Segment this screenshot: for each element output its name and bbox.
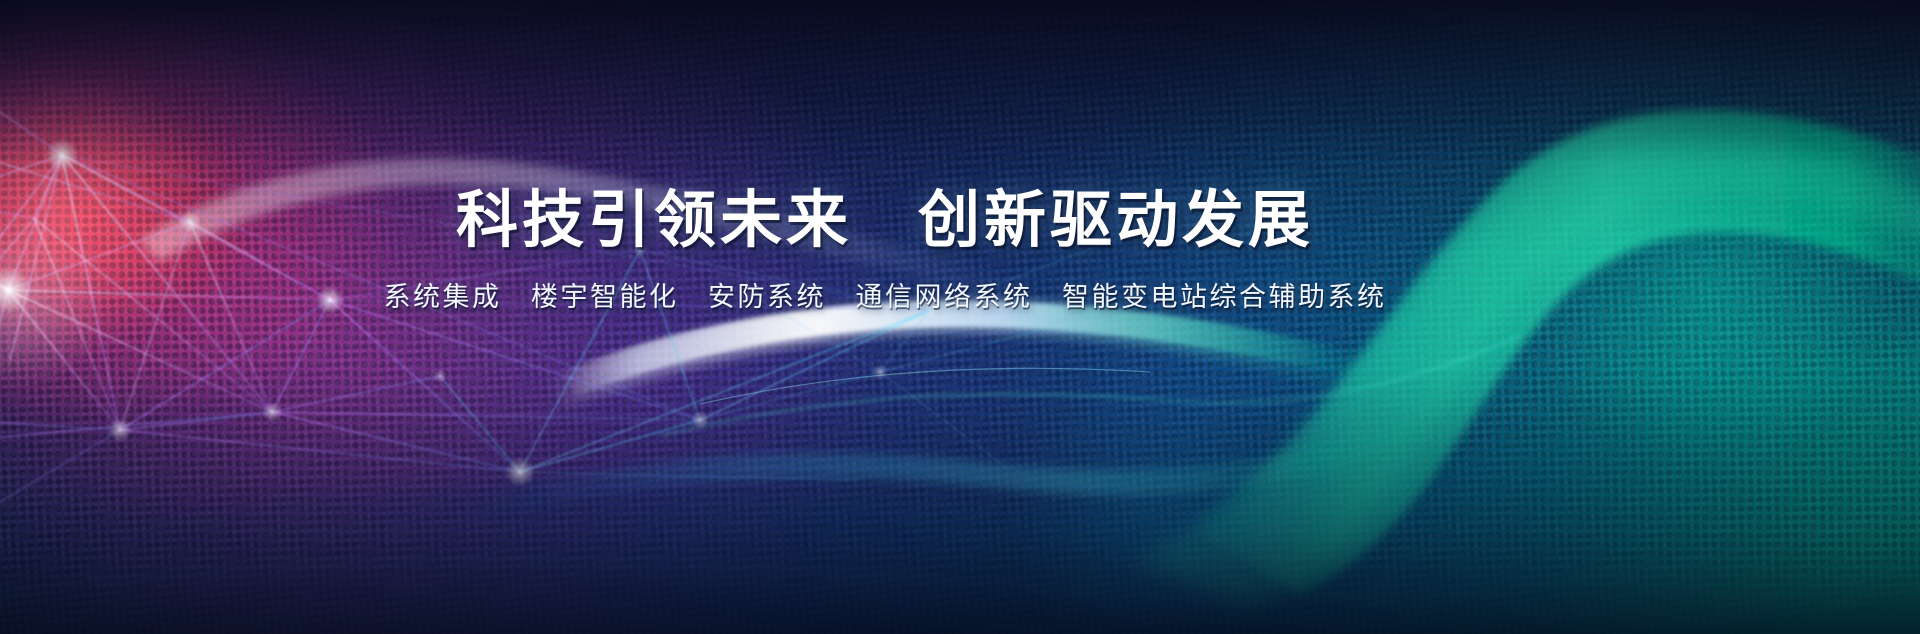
wave-ribbon-bottom xyxy=(0,500,1920,601)
wave-ribbon-white-glow xyxy=(545,299,1375,410)
halftone-dot-mesh-fine xyxy=(0,0,1920,634)
network-node xyxy=(505,457,535,487)
wave-ribbons xyxy=(0,0,1920,634)
halftone-dot-mesh xyxy=(0,0,1920,634)
network-graph xyxy=(0,0,1920,634)
network-node xyxy=(691,411,709,429)
wave-hairline-cyan xyxy=(660,336,1520,436)
wave-ribbon-white xyxy=(560,301,1360,396)
top-vignette xyxy=(0,0,1920,634)
bottom-vignette xyxy=(0,0,1920,634)
wave-hairline-cyan-2 xyxy=(700,368,1150,404)
banner-headline: 科技引领未来 创新驱动发展 xyxy=(0,188,1920,255)
network-node xyxy=(45,138,79,172)
banner-subtitle: 系统集成 楼宇智能化 安防系统 通信网络系统 智能变电站综合辅助系统 xyxy=(0,281,1920,313)
tech-hero-banner: 科技引领未来 创新驱动发展 系统集成 楼宇智能化 安防系统 通信网络系统 智能变… xyxy=(0,0,1920,634)
background-gradient xyxy=(0,0,1920,634)
halftone-dot-mesh-dark xyxy=(0,0,1920,634)
wave-ribbon-blue xyxy=(440,416,1424,530)
wave-ribbon-green xyxy=(1180,110,1920,595)
network-node xyxy=(108,418,132,442)
banner-text-block: 科技引领未来 创新驱动发展 系统集成 楼宇智能化 安防系统 通信网络系统 智能变… xyxy=(0,188,1920,313)
network-node xyxy=(433,369,447,383)
glow-overlay xyxy=(0,0,1920,634)
wave-ribbon-deep xyxy=(0,330,1920,634)
network-node xyxy=(262,402,282,422)
network-node xyxy=(872,364,888,380)
